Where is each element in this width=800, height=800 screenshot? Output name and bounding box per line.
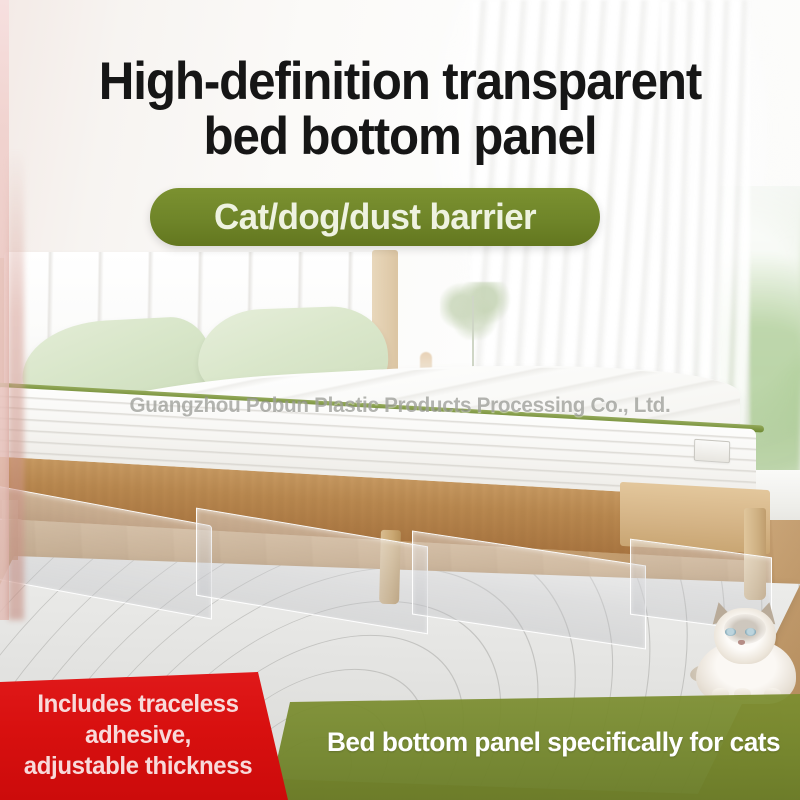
cat: [694, 600, 798, 706]
cat-eye-right: [745, 628, 756, 636]
cat-eye-left: [725, 628, 736, 636]
cat-nose: [738, 640, 745, 645]
feature-badge: Cat/dog/dust barrier: [150, 188, 600, 246]
green-caption-text: Bed bottom panel specifically for cats: [327, 727, 780, 758]
company-watermark: Guangzhou Pobun Plastic Products Process…: [16, 393, 784, 418]
page-title: High-definition transparent bed bottom p…: [28, 54, 772, 164]
plant-foliage: [440, 282, 512, 340]
mattress-tag: [694, 439, 730, 464]
green-caption-bar: Bed bottom panel specifically for cats: [268, 694, 800, 800]
left-edge-shadow: [8, 150, 24, 620]
feature-badge-label: Cat/dog/dust barrier: [214, 196, 536, 238]
red-callout-text: Includes traceless adhesive, adjustable …: [6, 689, 271, 782]
product-banner: High-definition transparent bed bottom p…: [0, 0, 800, 800]
plant-stem: [472, 296, 474, 370]
